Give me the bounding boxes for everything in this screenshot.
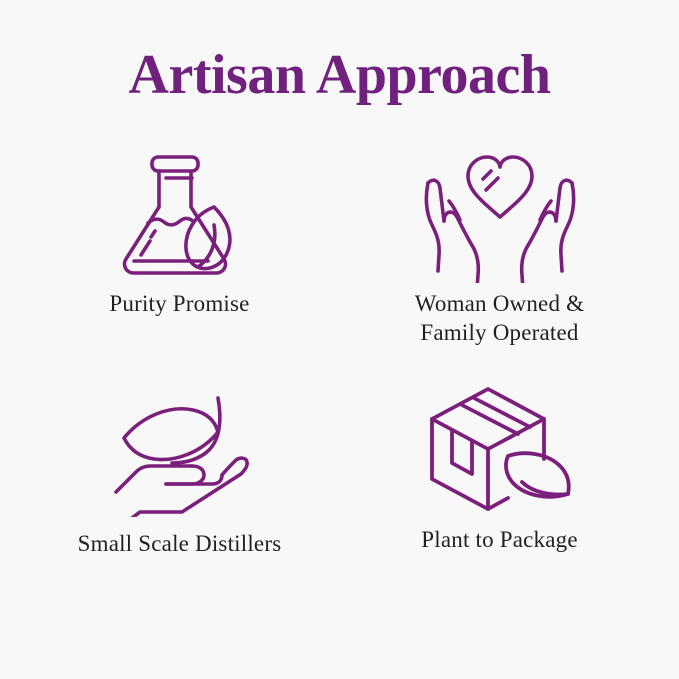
feature-label: Purity Promise xyxy=(109,289,249,318)
artisan-approach-panel: Artisan Approach xyxy=(0,0,679,679)
flask-leaf-icon xyxy=(110,143,250,283)
feature-grid: Purity Promise xyxy=(20,143,660,607)
feature-label: Woman Owned & Family Operated xyxy=(415,289,584,348)
hands-heart-icon xyxy=(418,143,582,283)
feature-item-woman-owned: Woman Owned & Family Operated xyxy=(340,143,660,348)
feature-label: Small Scale Distillers xyxy=(78,529,282,558)
box-leaf-icon xyxy=(422,375,578,519)
page-title: Artisan Approach xyxy=(0,0,679,105)
feature-item-small-scale-distillers: Small Scale Distillers xyxy=(20,375,340,558)
feature-item-plant-to-package: Plant to Package xyxy=(340,375,660,554)
leaf-in-hand-icon xyxy=(110,375,250,523)
feature-label: Plant to Package xyxy=(421,525,578,554)
feature-item-purity-promise: Purity Promise xyxy=(20,143,340,318)
